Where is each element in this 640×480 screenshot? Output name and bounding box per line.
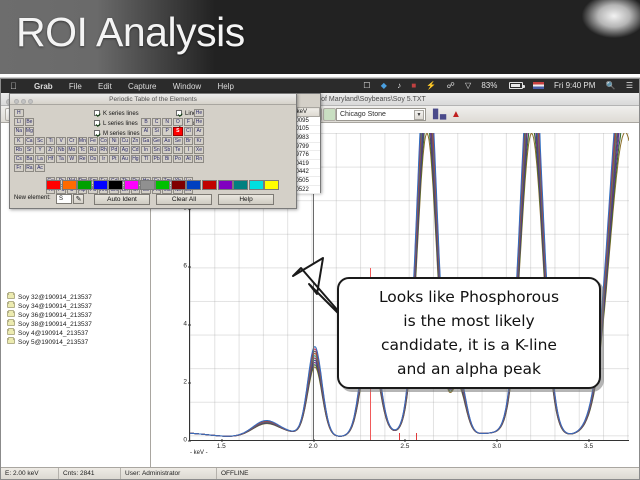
color-swatch[interactable]: [155, 180, 170, 190]
element-marker-tick[interactable]: [416, 433, 417, 440]
notification-center-icon[interactable]: ☰: [622, 79, 637, 93]
color-swatch[interactable]: [202, 180, 217, 190]
element-cell-y[interactable]: Y: [35, 146, 45, 154]
tree-item-label: Soy 38@190914_213537: [18, 321, 92, 328]
auto-ident-button[interactable]: Auto Ident: [94, 194, 150, 205]
element-cell-xe[interactable]: Xe: [194, 146, 204, 154]
element-cell-sc[interactable]: Sc: [35, 137, 45, 145]
element-cell-co[interactable]: Co: [99, 137, 109, 145]
element-cell-p[interactable]: P: [162, 127, 172, 135]
element-cell-ca[interactable]: Ca: [25, 137, 35, 145]
stone-select-value: Chicago Stone: [340, 111, 386, 118]
y-tick-label: 4: [183, 321, 187, 328]
menu-item-edit[interactable]: Edit: [91, 80, 119, 94]
list-item[interactable]: Soy 34@190914_213537: [1, 302, 150, 311]
status-user: User: Administrator: [121, 468, 217, 480]
periodic-table-titlebar: Periodic Table of the Elements: [10, 94, 296, 105]
tree-item-label: Soy 36@190914_213537: [18, 312, 92, 319]
color-swatch[interactable]: [62, 180, 77, 190]
tree-item-label: Soy 34@190914_213537: [18, 303, 92, 310]
checkbox-l-series[interactable]: L series lines: [94, 120, 138, 127]
element-cell-he[interactable]: He: [194, 109, 204, 117]
color-swatch[interactable]: [249, 180, 264, 190]
element-cell-c[interactable]: C: [152, 118, 162, 126]
element-cell-cu[interactable]: Cu: [120, 137, 130, 145]
checkmark-icon: [94, 130, 100, 136]
x-tick-label: 3.5: [584, 443, 593, 450]
element-cell-na[interactable]: Na: [14, 127, 24, 135]
x-tick-label: 2.0: [309, 443, 318, 450]
color-swatch[interactable]: [108, 180, 123, 190]
element-cell-n[interactable]: N: [162, 118, 172, 126]
element-cell-br[interactable]: Br: [184, 137, 194, 145]
record-icon[interactable]: ■: [407, 79, 420, 93]
tree-item-label: Soy 32@190914_213537: [18, 294, 92, 301]
element-cell-rh[interactable]: Rh: [99, 146, 109, 154]
element-cell-he[interactable]: He: [194, 118, 204, 126]
eyedropper-icon[interactable]: ✎: [73, 194, 84, 204]
element-cell-v[interactable]: V: [56, 137, 66, 145]
color-swatch[interactable]: [171, 180, 186, 190]
new-element-label: New element:: [14, 195, 51, 201]
element-cell-be[interactable]: Be: [25, 118, 35, 126]
element-cell-ar[interactable]: Ar: [194, 127, 204, 135]
element-cell-rn[interactable]: Rn: [194, 155, 204, 163]
list-item[interactable]: Soy 36@190914_213537: [1, 311, 150, 320]
element-cell-ge[interactable]: Ge: [152, 137, 162, 145]
checkmark-icon: [94, 110, 100, 116]
stone-select[interactable]: Chicago Stone ▼: [336, 108, 426, 121]
menu-item-window[interactable]: Window: [166, 80, 208, 94]
clear-all-button[interactable]: Clear All: [156, 194, 212, 205]
element-cell-hg[interactable]: Hg: [131, 155, 141, 163]
element-cell-te[interactable]: Te: [173, 146, 183, 154]
element-cell-tl[interactable]: Tl: [141, 155, 151, 163]
element-cell-zr[interactable]: Zr: [46, 146, 56, 154]
menu-item-capture[interactable]: Capture: [121, 80, 163, 94]
x-axis-label: - keV -: [190, 450, 208, 456]
folder-icon: [7, 302, 15, 308]
element-cell-w[interactable]: W: [67, 155, 77, 163]
spectrum-icon[interactable]: ▊▄: [433, 109, 444, 120]
color-swatch[interactable]: [233, 180, 248, 190]
clock-label[interactable]: Fri 9:40 PM: [550, 79, 599, 93]
element-cell-b[interactable]: B: [141, 118, 151, 126]
element-cell-fr[interactable]: Fr: [14, 164, 24, 172]
y-tick-label: 2: [183, 379, 187, 386]
element-cell-o[interactable]: O: [173, 118, 183, 126]
element-cell-cr[interactable]: Cr: [67, 137, 77, 145]
element-cell-sr[interactable]: Sr: [25, 146, 35, 154]
element-cell-pt[interactable]: Pt: [109, 155, 119, 163]
element-cell-ti[interactable]: Ti: [46, 137, 56, 145]
element-cell-hf[interactable]: Hf: [46, 155, 56, 163]
checkmark-icon: [94, 120, 100, 126]
color-swatch[interactable]: [140, 180, 155, 190]
element-cell-bi[interactable]: Bi: [162, 155, 172, 163]
element-cell-se[interactable]: Se: [173, 137, 183, 145]
element-cell-ni[interactable]: Ni: [109, 137, 119, 145]
folder-icon: [7, 329, 15, 335]
peak-icon[interactable]: ▲: [451, 109, 462, 120]
checkmark-icon: [176, 110, 182, 116]
element-cell-kr[interactable]: Kr: [194, 137, 204, 145]
checkbox-label: L series lines: [103, 121, 138, 127]
status-energy: E: 2.00 keV: [1, 468, 59, 480]
new-element-input[interactable]: S: [56, 194, 72, 204]
element-cell-au[interactable]: Au: [120, 155, 130, 163]
element-cell-os[interactable]: Os: [88, 155, 98, 163]
element-cell-ru[interactable]: Ru: [88, 146, 98, 154]
element-cell-nb[interactable]: Nb: [56, 146, 66, 154]
menu-item-grab[interactable]: Grab: [27, 80, 60, 94]
color-swatch[interactable]: [218, 180, 233, 190]
color-swatch[interactable]: [46, 180, 61, 190]
periodic-table-dialog[interactable]: Periodic Table of the Elements K series …: [9, 93, 297, 209]
apple-icon[interactable]: : [1, 79, 25, 93]
element-cell-cl[interactable]: Cl: [184, 127, 194, 135]
status-counts: Cnts: 2841: [59, 468, 121, 480]
element-cell-mo[interactable]: Mo: [67, 146, 77, 154]
element-cell-sb[interactable]: Sb: [162, 146, 172, 154]
element-cell-pb[interactable]: Pb: [152, 155, 162, 163]
element-cell-ga[interactable]: Ga: [141, 137, 151, 145]
status-mode: OFFLINE: [217, 468, 287, 480]
checkbox-k-series[interactable]: K series lines: [94, 110, 139, 117]
window-traffic-lights[interactable]: [14, 97, 35, 108]
sound-icon[interactable]: ♪: [393, 79, 405, 93]
callout-line-1: Looks like Phosphorous: [339, 285, 599, 309]
battery-icon[interactable]: [504, 79, 527, 93]
list-item[interactable]: Soy 5@190914_213537: [1, 338, 150, 347]
x-tick-label: 1.5: [217, 443, 226, 450]
element-cell-la[interactable]: La: [35, 155, 45, 163]
x-tick-label: 2.5: [400, 443, 409, 450]
element-cell-sn[interactable]: Sn: [152, 146, 162, 154]
bluetooth-icon[interactable]: ☍: [443, 79, 459, 93]
element-cell-i[interactable]: I: [184, 146, 194, 154]
folder-icon: [7, 338, 15, 344]
dropbox-icon[interactable]: ◆: [377, 79, 391, 93]
element-marker-tick[interactable]: [399, 433, 400, 440]
element-cell-ta[interactable]: Ta: [56, 155, 66, 163]
list-item[interactable]: Soy 38@190914_213537: [1, 320, 150, 329]
page-title: ROI Analysis: [16, 6, 245, 58]
power-icon[interactable]: ⚡: [422, 79, 440, 93]
color-swatch[interactable]: [186, 180, 201, 190]
element-cell-si[interactable]: Si: [152, 127, 162, 135]
folder-icon: [7, 293, 15, 299]
screenshot-region:  Grab File Edit Capture Window Help ☐ ◆…: [0, 78, 640, 480]
y-tick-label: 6: [183, 263, 187, 270]
element-cell-al[interactable]: Al: [141, 127, 151, 135]
tree-item-label: Soy 5@190914_213537: [18, 339, 88, 346]
element-cell-ra[interactable]: Ra: [25, 164, 35, 172]
menu-item-file[interactable]: File: [62, 80, 89, 94]
menu-item-help[interactable]: Help: [210, 80, 240, 94]
element-cell-fe[interactable]: Fe: [88, 137, 98, 145]
element-cell-ir[interactable]: Ir: [99, 155, 109, 163]
element-cell-mn[interactable]: Mn: [78, 137, 88, 145]
element-cell-h[interactable]: H: [14, 109, 24, 117]
element-cell-cs[interactable]: Cs: [14, 155, 24, 163]
element-cell-zn[interactable]: Zn: [131, 137, 141, 145]
list-item[interactable]: Soy 32@190914_213537: [1, 293, 150, 302]
color-swatch[interactable]: [264, 180, 279, 190]
airplay-icon[interactable]: ☐: [359, 79, 374, 93]
status-bar: E: 2.00 keV Cnts: 2841 User: Administrat…: [1, 467, 639, 479]
periodic-table-title: Periodic Table of the Elements: [109, 96, 197, 103]
element-cell-ac[interactable]: Ac: [35, 164, 45, 172]
color-swatch[interactable]: [93, 180, 108, 190]
folder-icon: [7, 311, 15, 317]
element-cell-ag[interactable]: Ag: [120, 146, 130, 154]
element-cell-f[interactable]: F: [184, 118, 194, 126]
x-tick-label: 3.0: [492, 443, 501, 450]
element-cell-po[interactable]: Po: [173, 155, 183, 163]
element-cell-at[interactable]: At: [184, 155, 194, 163]
spotlight-search-icon[interactable]: 🔍: [602, 79, 620, 93]
element-cell-cd[interactable]: Cd: [131, 146, 141, 154]
element-cell-rb[interactable]: Rb: [14, 146, 24, 154]
y-tick-label: 0: [183, 437, 187, 444]
checkbox-label: K series lines: [103, 111, 139, 117]
element-cell-li[interactable]: Li: [14, 118, 24, 126]
slide-banner-image: ROI Analysis: [0, 0, 640, 74]
mac-menu-bar:  Grab File Edit Capture Window Help ☐ ◆…: [1, 79, 639, 93]
list-item[interactable]: Soy 4@190914_213537: [1, 329, 150, 338]
element-cell-ba[interactable]: Ba: [25, 155, 35, 163]
flag-icon[interactable]: [529, 79, 548, 93]
chevron-down-icon[interactable]: ▼: [414, 110, 424, 120]
wifi-icon[interactable]: ▽: [461, 79, 475, 93]
element-cell-as[interactable]: As: [162, 137, 172, 145]
element-cell-re[interactable]: Re: [78, 155, 88, 163]
image-icon[interactable]: [323, 108, 336, 121]
element-cell-s[interactable]: S: [173, 127, 183, 135]
callout-line-4: and an alpha peak: [339, 357, 599, 381]
callout-line-2: is the most likely: [339, 309, 599, 333]
color-swatch[interactable]: [124, 180, 139, 190]
color-swatch[interactable]: [77, 180, 92, 190]
help-button[interactable]: Help: [218, 194, 274, 205]
tree-item-label: Soy 4@190914_213537: [18, 330, 88, 337]
element-cell-tc[interactable]: Tc: [78, 146, 88, 154]
element-cell-pd[interactable]: Pd: [109, 146, 119, 154]
annotation-callout: Looks like Phosphorous is the most likel…: [337, 277, 601, 389]
element-cell-in[interactable]: In: [141, 146, 151, 154]
folder-icon: [7, 320, 15, 326]
battery-percent-label: 83%: [477, 79, 501, 93]
callout-line-3: candidate, it is a K-line: [339, 333, 599, 357]
element-cell-k[interactable]: K: [14, 137, 24, 145]
element-cell-mg[interactable]: Mg: [25, 127, 35, 135]
